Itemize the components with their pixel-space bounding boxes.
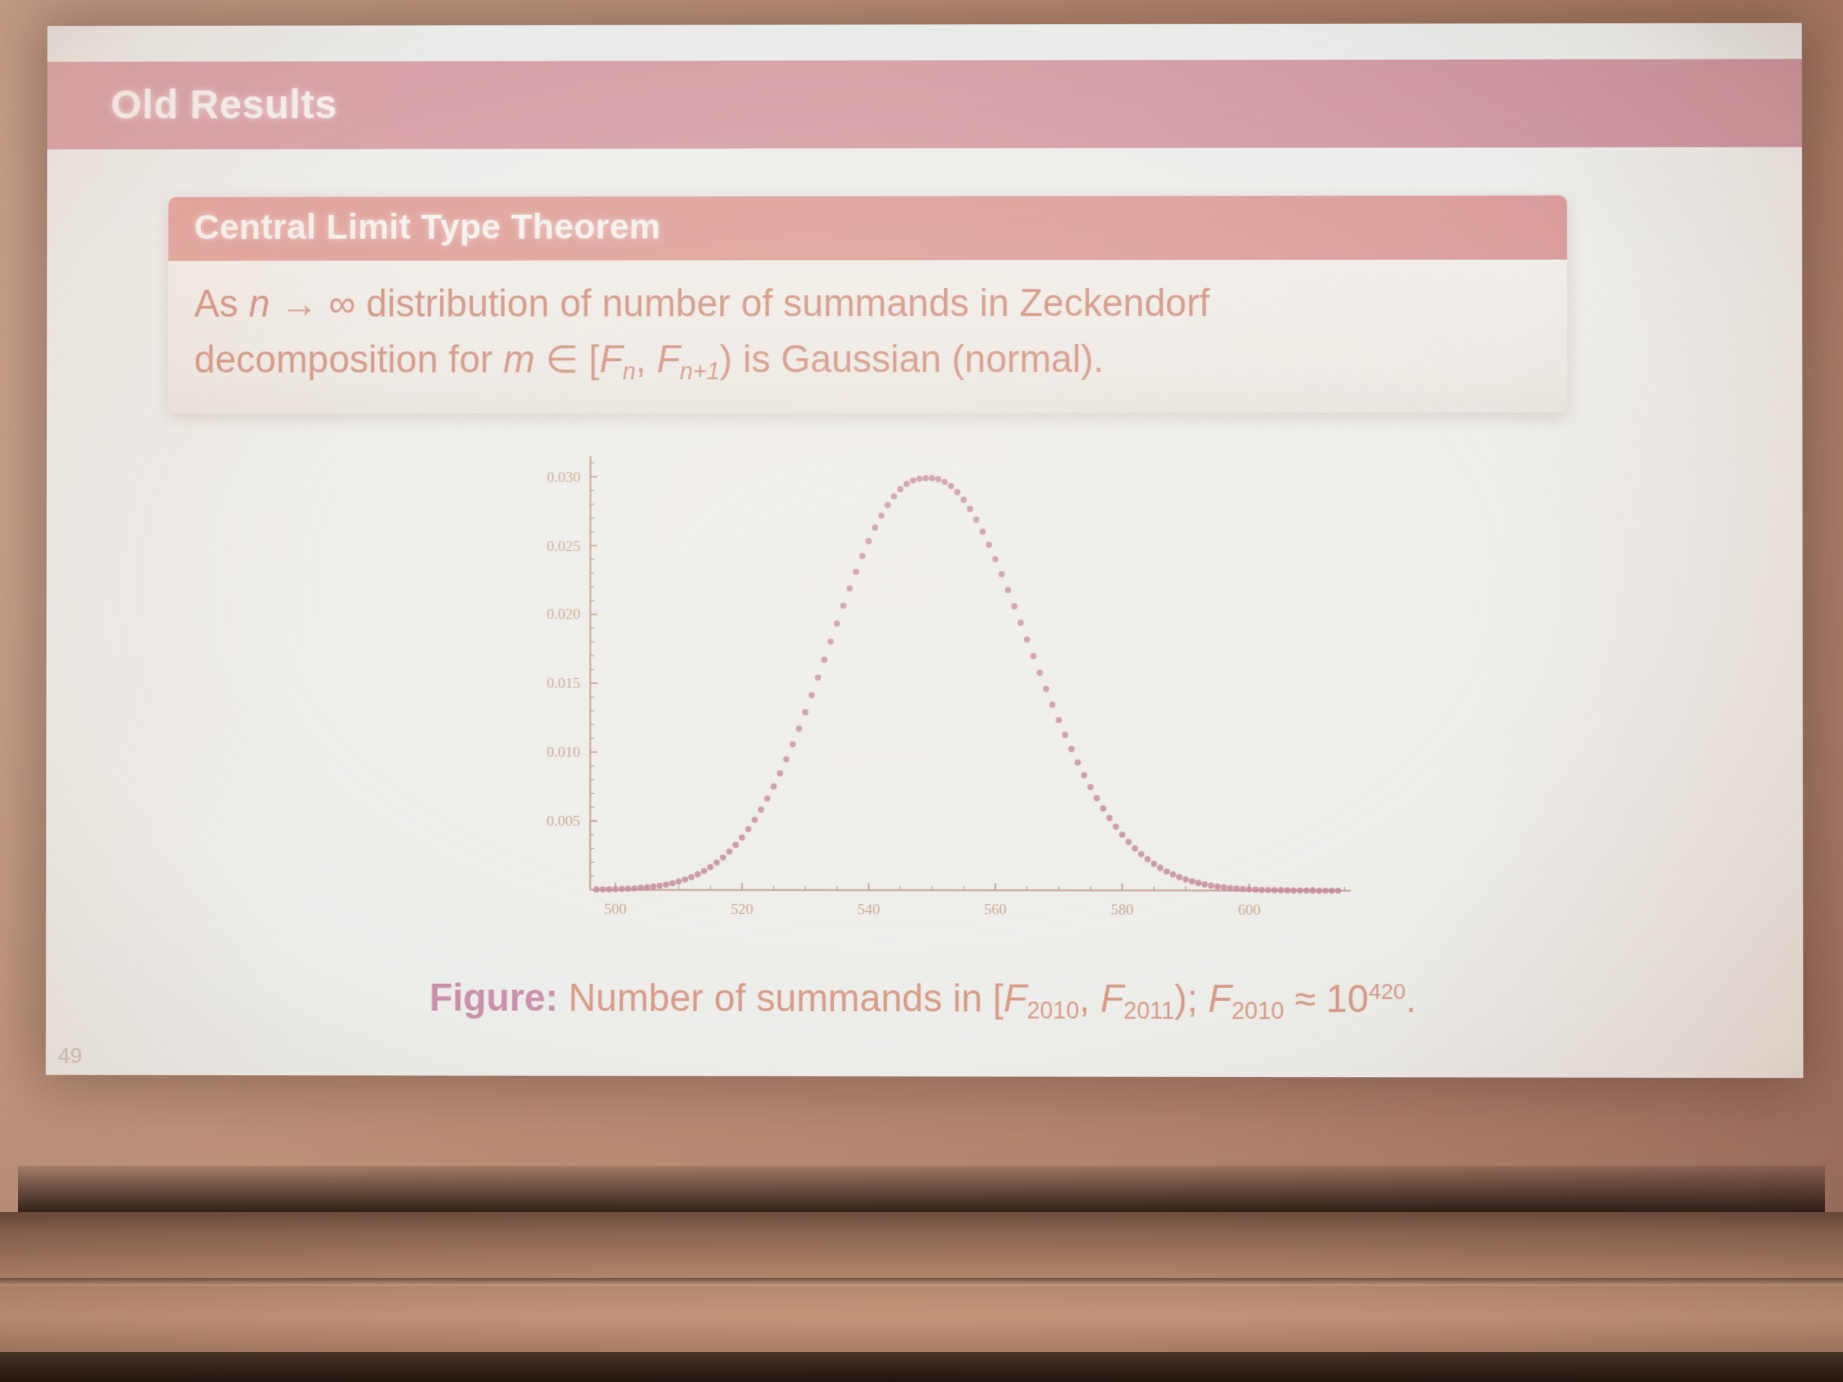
svg-text:0.030: 0.030	[547, 470, 581, 486]
caption-label: Figure:	[429, 978, 558, 1020]
arrow-infinity: → ∞	[270, 284, 366, 326]
figure-caption: Figure: Number of summands in [F2010, F2…	[46, 977, 1803, 1025]
theorem-line-1: As n → ∞ distribution of number of summa…	[194, 276, 1537, 333]
gaussian-distribution-plot: 0.0050.0100.0150.0200.0250.0305005205405…	[472, 438, 1373, 939]
caption-exponent: 420	[1369, 979, 1406, 1004]
slide-title-bar: Old Results	[47, 59, 1802, 149]
caption-F-2010-subscript: 2010	[1027, 997, 1079, 1023]
element-of-bracket: ∈ [	[535, 340, 600, 382]
caption-F-2010-b-subscript: 2010	[1232, 997, 1285, 1023]
svg-text:500: 500	[604, 902, 626, 918]
caption-F-2011-subscript: 2011	[1124, 997, 1175, 1023]
chart-svg: 0.0050.0100.0150.0200.0250.0305005205405…	[472, 438, 1373, 939]
svg-text:540: 540	[857, 902, 880, 918]
svg-text:560: 560	[984, 902, 1007, 918]
svg-text:600: 600	[1238, 903, 1261, 919]
svg-text:520: 520	[731, 902, 753, 918]
projected-slide: Old Results Central Limit Type Theorem A…	[46, 23, 1803, 1078]
theorem-block-header: Central Limit Type Theorem	[168, 195, 1567, 260]
theorem-block-body: As n → ∞ distribution of number of summa…	[168, 260, 1567, 414]
desk-ledge	[0, 1212, 1843, 1382]
var-m: m	[503, 340, 535, 382]
theorem-block: Central Limit Type Theorem As n → ∞ dist…	[168, 195, 1567, 413]
ledge-bottom-shadow	[0, 1352, 1843, 1382]
caption-approx-ten: ≈ 10	[1284, 979, 1369, 1021]
svg-text:0.020: 0.020	[547, 607, 581, 623]
svg-text:580: 580	[1111, 902, 1134, 918]
svg-text:0.010: 0.010	[547, 745, 581, 761]
svg-text:0.005: 0.005	[547, 814, 581, 830]
caption-F-2010: F	[1003, 978, 1026, 1020]
caption-F-2011: F	[1100, 979, 1123, 1021]
fib-F-n1-subscript: n+1	[680, 358, 720, 384]
room-photo-background: Old Results Central Limit Type Theorem A…	[0, 0, 1843, 1382]
caption-F-2010-b: F	[1208, 979, 1231, 1021]
theorem-line-2: decomposition for m ∈ [Fn, Fn+1) is Gaus…	[194, 332, 1537, 389]
data-point-series	[593, 475, 1341, 894]
screen-bottom-shadow	[18, 1166, 1825, 1212]
svg-text:0.025: 0.025	[547, 539, 581, 555]
svg-text:0.015: 0.015	[547, 676, 581, 692]
var-n: n	[249, 284, 270, 326]
fib-F-n: F	[599, 340, 622, 382]
fib-F-n1: F	[657, 339, 680, 381]
theorem-title: Central Limit Type Theorem	[194, 208, 660, 247]
ledge-seam	[0, 1278, 1843, 1286]
page-title: Old Results	[111, 83, 338, 128]
slide-body: Central Limit Type Theorem As n → ∞ dist…	[46, 147, 1803, 1078]
slide-page-number: 49	[58, 1043, 82, 1069]
fib-F-n-subscript: n	[623, 358, 636, 384]
figure-area: 0.0050.0100.0150.0200.0250.0305005205405…	[46, 438, 1803, 940]
